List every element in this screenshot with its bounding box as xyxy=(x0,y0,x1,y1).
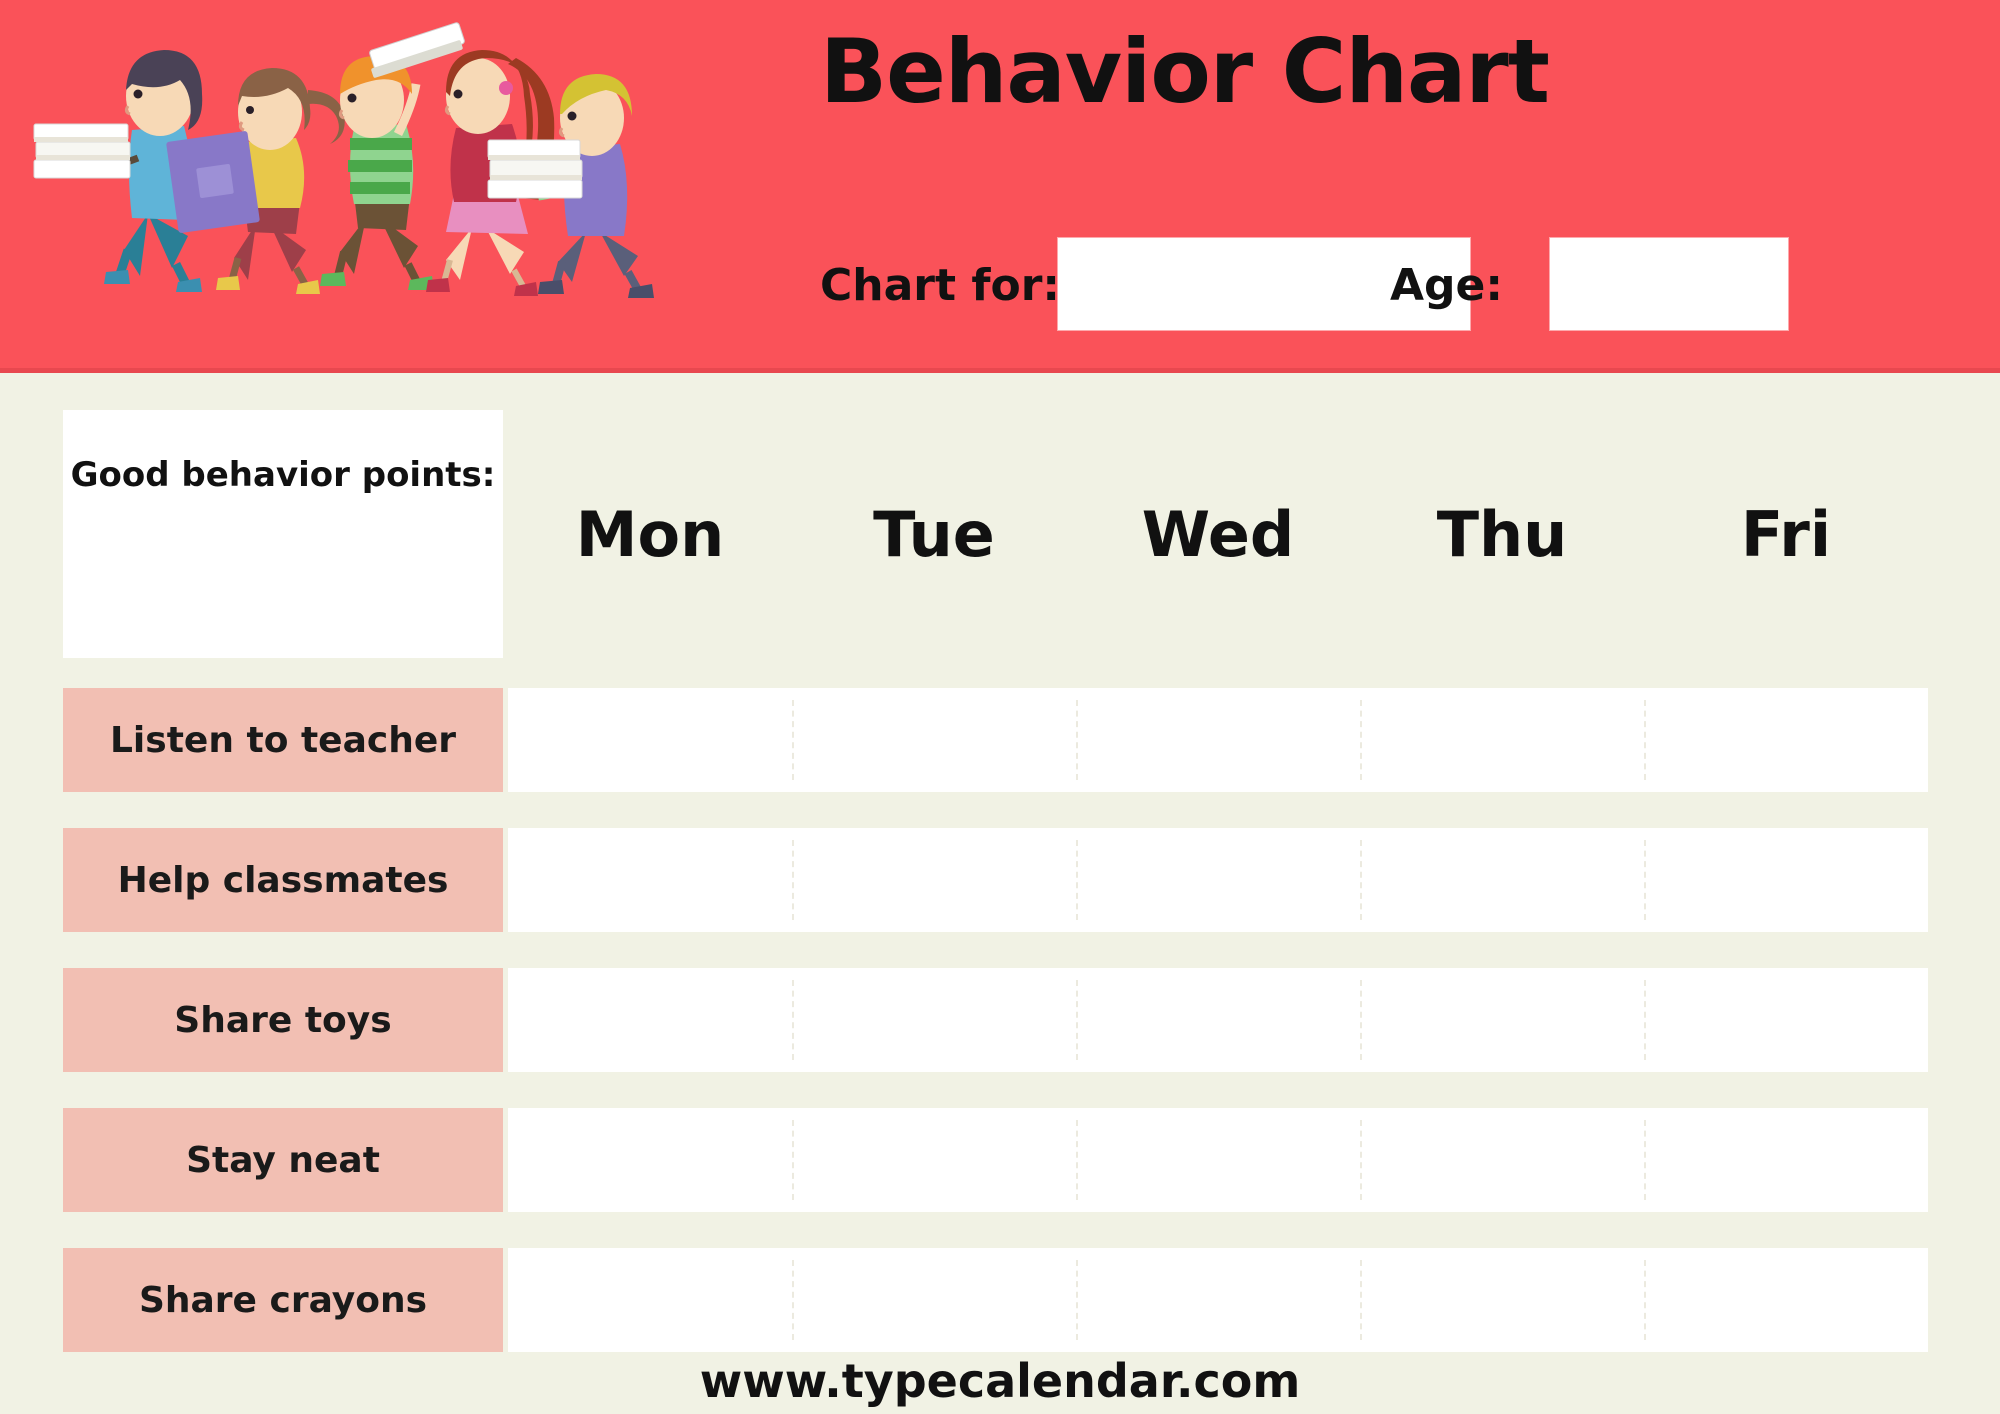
cell-thu[interactable] xyxy=(1360,688,1644,792)
behavior-cells-row-3 xyxy=(508,968,1928,1072)
age-input[interactable] xyxy=(1550,238,1788,330)
cell-tue[interactable] xyxy=(792,828,1076,932)
day-label: Mon xyxy=(576,498,724,571)
cell-wed[interactable] xyxy=(1076,968,1360,1072)
footer: www.typecalendar.com xyxy=(0,1354,2000,1408)
behavior-cells-row-4 xyxy=(508,1108,1928,1212)
good-behavior-points-box[interactable]: Good behavior points: xyxy=(63,410,503,658)
cell-wed[interactable] xyxy=(1076,688,1360,792)
cell-mon[interactable] xyxy=(508,688,792,792)
day-label: Wed xyxy=(1142,498,1295,571)
behavior-rows: Listen to teacher Help classmates xyxy=(0,688,2000,1388)
behavior-label-text: Share toys xyxy=(174,1000,391,1041)
good-behavior-points-label: Good behavior points: xyxy=(71,454,496,497)
cell-wed[interactable] xyxy=(1076,828,1360,932)
table-row: Share crayons xyxy=(0,1248,2000,1352)
header-form-fields: Chart for: Age: xyxy=(820,238,1950,334)
behavior-label-text: Listen to teacher xyxy=(110,720,456,761)
cell-fri[interactable] xyxy=(1644,688,1928,792)
book-stack-1 xyxy=(34,124,130,178)
cell-thu[interactable] xyxy=(1360,968,1644,1072)
table-row: Share toys xyxy=(0,968,2000,1072)
cell-fri[interactable] xyxy=(1644,968,1928,1072)
chart-for-label: Chart for: xyxy=(820,260,1060,311)
day-header-row: Mon Tue Wed Thu Fri xyxy=(508,410,1928,658)
behavior-cells-row-5 xyxy=(508,1248,1928,1352)
behavior-label-listen-to-teacher: Listen to teacher xyxy=(63,688,503,792)
day-header-fri: Fri xyxy=(1644,410,1928,658)
cell-mon[interactable] xyxy=(508,1108,792,1212)
cell-wed[interactable] xyxy=(1076,1248,1360,1352)
cell-tue[interactable] xyxy=(792,688,1076,792)
children-carrying-books-illustration xyxy=(20,18,780,358)
cell-mon[interactable] xyxy=(508,1248,792,1352)
behavior-label-text: Stay neat xyxy=(186,1140,380,1181)
behavior-label-text: Help classmates xyxy=(118,860,449,901)
day-header-tue: Tue xyxy=(792,410,1076,658)
behavior-label-help-classmates: Help classmates xyxy=(63,828,503,932)
day-header-wed: Wed xyxy=(1076,410,1360,658)
cell-mon[interactable] xyxy=(508,968,792,1072)
cell-thu[interactable] xyxy=(1360,1108,1644,1212)
cell-tue[interactable] xyxy=(792,1248,1076,1352)
behavior-table: Good behavior points: Mon Tue Wed Thu Fr… xyxy=(0,373,2000,1414)
table-row: Help classmates xyxy=(0,828,2000,932)
table-row: Listen to teacher xyxy=(0,688,2000,792)
cell-wed[interactable] xyxy=(1076,1108,1360,1212)
day-header-mon: Mon xyxy=(508,410,792,658)
cell-thu[interactable] xyxy=(1360,1248,1644,1352)
cell-mon[interactable] xyxy=(508,828,792,932)
day-label: Fri xyxy=(1741,498,1831,571)
table-row: Stay neat xyxy=(0,1108,2000,1212)
cell-fri[interactable] xyxy=(1644,828,1928,932)
behavior-label-share-toys: Share toys xyxy=(63,968,503,1072)
child-3 xyxy=(320,22,465,290)
cell-fri[interactable] xyxy=(1644,1248,1928,1352)
cell-tue[interactable] xyxy=(792,1108,1076,1212)
cell-fri[interactable] xyxy=(1644,1108,1928,1212)
notebook-2 xyxy=(166,131,260,234)
behavior-cells-row-2 xyxy=(508,828,1928,932)
book-stack-5 xyxy=(488,140,582,198)
behavior-label-stay-neat: Stay neat xyxy=(63,1108,503,1212)
day-header-thu: Thu xyxy=(1360,410,1644,658)
age-label: Age: xyxy=(1390,260,1503,311)
page-title: Behavior Chart xyxy=(820,20,1549,123)
cell-tue[interactable] xyxy=(792,968,1076,1072)
day-label: Thu xyxy=(1437,498,1568,571)
behavior-label-text: Share crayons xyxy=(139,1280,427,1321)
behavior-label-share-crayons: Share crayons xyxy=(63,1248,503,1352)
footer-website-url[interactable]: www.typecalendar.com xyxy=(700,1354,1301,1408)
day-label: Tue xyxy=(873,498,995,571)
page-header: Behavior Chart Chart for: Age: xyxy=(0,0,2000,373)
cell-thu[interactable] xyxy=(1360,828,1644,932)
behavior-cells-row-1 xyxy=(508,688,1928,792)
